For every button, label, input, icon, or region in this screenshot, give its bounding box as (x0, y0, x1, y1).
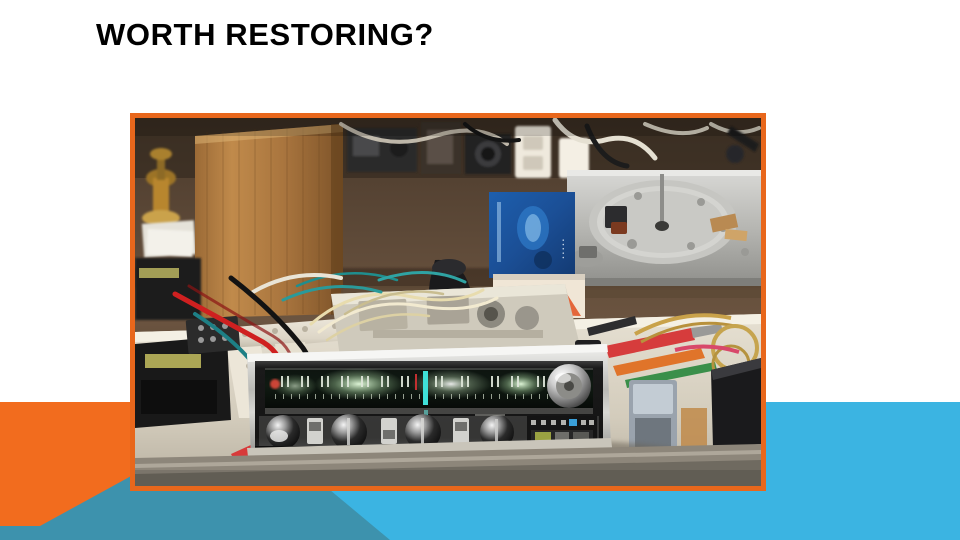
blue-record-sleeve: ····· (489, 192, 575, 278)
disassembled-turntable-chassis (567, 170, 761, 286)
svg-text:·····: ····· (556, 238, 571, 260)
workbench-photo: ····· (135, 118, 761, 486)
presentation-slide: WORTH RESTORING? (0, 0, 960, 540)
photo-frame: ····· (130, 113, 766, 491)
page-title: WORTH RESTORING? (96, 16, 876, 55)
paper-stack (142, 220, 196, 258)
tuning-knob (547, 364, 591, 408)
